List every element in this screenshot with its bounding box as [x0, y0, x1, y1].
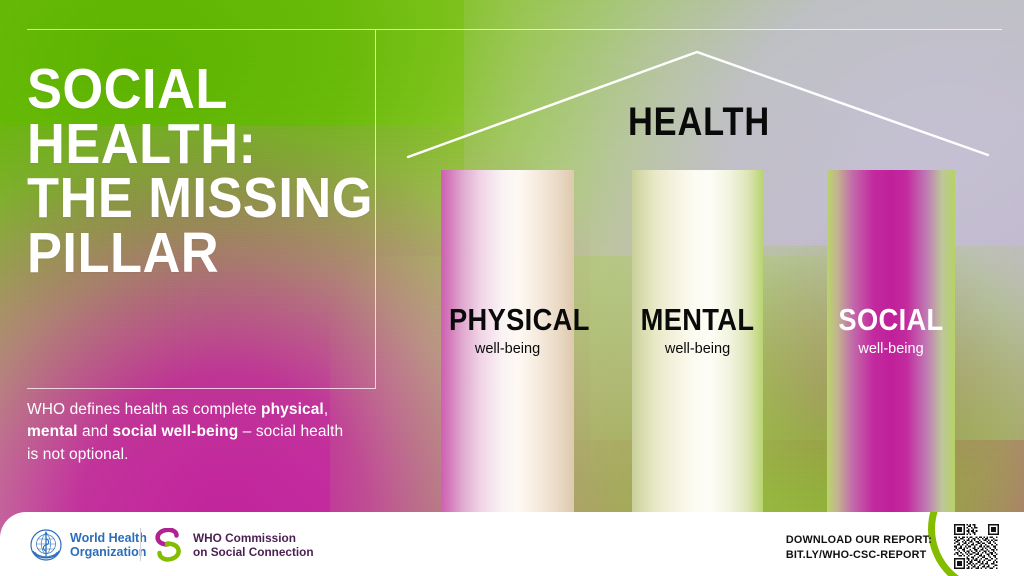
- definition-bold-social: social well-being: [113, 423, 239, 440]
- footer-bar: World Health Organization WHO Commission…: [0, 512, 1024, 576]
- commission-logo-text: WHO Commission on Social Connection: [193, 531, 314, 559]
- who-logo: World Health Organization: [30, 529, 147, 561]
- definition-bold-mental: mental: [27, 423, 78, 440]
- pillar-mental-label: MENTAL well-being: [632, 304, 763, 357]
- pillar-physical: PHYSICAL well-being: [441, 170, 574, 515]
- commission-line-2: on Social Connection: [193, 545, 314, 559]
- definition-text-3: and: [78, 423, 113, 440]
- page-title-line-4: PILLAR: [27, 226, 331, 281]
- definition-text-1: WHO defines health as complete: [27, 401, 261, 418]
- definition-paragraph: WHO defines health as complete physical,…: [27, 399, 357, 466]
- pillar-physical-title: PHYSICAL: [449, 304, 566, 335]
- divider-left-horizontal: [27, 388, 376, 389]
- who-logo-line-2: Organization: [70, 545, 147, 559]
- pillar-physical-label: PHYSICAL well-being: [441, 304, 574, 357]
- report-cta-text[interactable]: DOWNLOAD OUR REPORT: BIT.LY/WHO-CSC-REPO…: [786, 533, 932, 562]
- qr-code[interactable]: [954, 524, 999, 569]
- pillar-mental-title: MENTAL: [640, 304, 755, 335]
- roof-label-health: HEALTH: [617, 100, 780, 145]
- divider-vertical: [375, 30, 376, 388]
- commission-logo: WHO Commission on Social Connection: [152, 528, 314, 562]
- divider-top-horizontal: [27, 29, 1002, 30]
- pillar-social: SOCIAL well-being: [827, 170, 955, 515]
- pillar-mental: MENTAL well-being: [632, 170, 763, 515]
- page-title-line-1: SOCIAL: [27, 62, 331, 117]
- page-title: SOCIAL HEALTH: THE MISSING PILLAR: [27, 62, 331, 281]
- pillar-mental-subtitle: well-being: [632, 342, 763, 357]
- poster-canvas: SOCIAL HEALTH: THE MISSING PILLAR WHO de…: [0, 0, 1024, 576]
- social-connection-s-mark-icon: [152, 528, 184, 562]
- footer-divider: [140, 528, 141, 561]
- who-emblem-icon: [30, 529, 62, 561]
- page-title-line-3: THE MISSING: [27, 171, 331, 226]
- definition-bold-physical: physical: [261, 401, 324, 418]
- pillar-social-subtitle: well-being: [827, 342, 955, 357]
- who-logo-line-1: World Health: [70, 531, 147, 545]
- definition-text-2: ,: [324, 401, 328, 418]
- page-title-line-2: HEALTH:: [27, 117, 331, 172]
- commission-line-1: WHO Commission: [193, 531, 314, 545]
- who-logo-text: World Health Organization: [70, 531, 147, 559]
- pillar-social-title: SOCIAL: [835, 304, 948, 335]
- pillar-social-label: SOCIAL well-being: [827, 304, 955, 357]
- pillar-physical-subtitle: well-being: [441, 342, 574, 357]
- report-cta-line-1: DOWNLOAD OUR REPORT:: [786, 533, 932, 548]
- report-cta-line-2: BIT.LY/WHO-CSC-REPORT: [786, 548, 932, 563]
